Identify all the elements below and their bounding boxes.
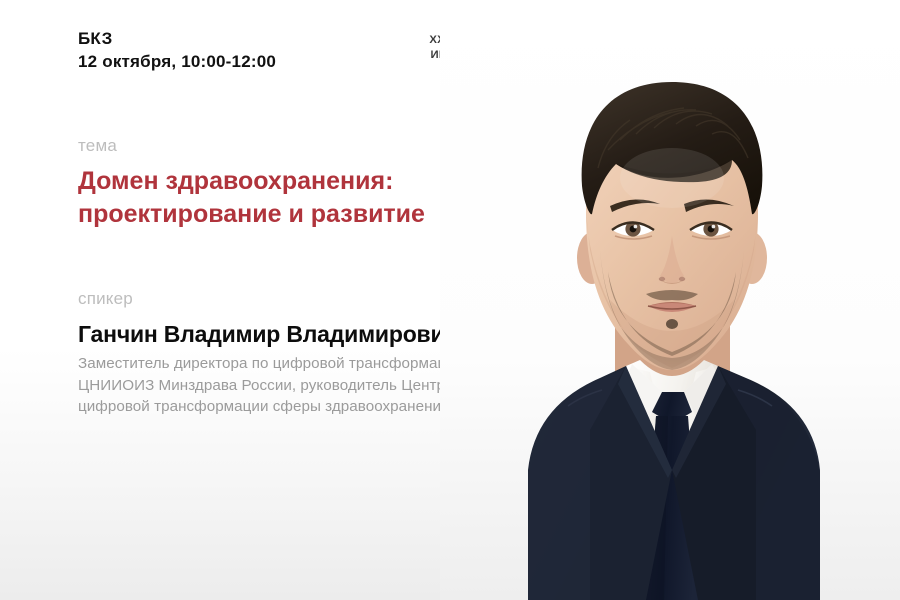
speaker-announcement-card: БКЗ 12 октября, 10:00-12:00 XXIII ЕЖЕГОД… <box>0 0 900 600</box>
venue-name: БКЗ <box>78 28 276 50</box>
venue-datetime: 12 октября, 10:00-12:00 <box>78 50 276 74</box>
speaker-photo <box>440 0 900 600</box>
venue-block: БКЗ 12 октября, 10:00-12:00 <box>78 28 276 74</box>
